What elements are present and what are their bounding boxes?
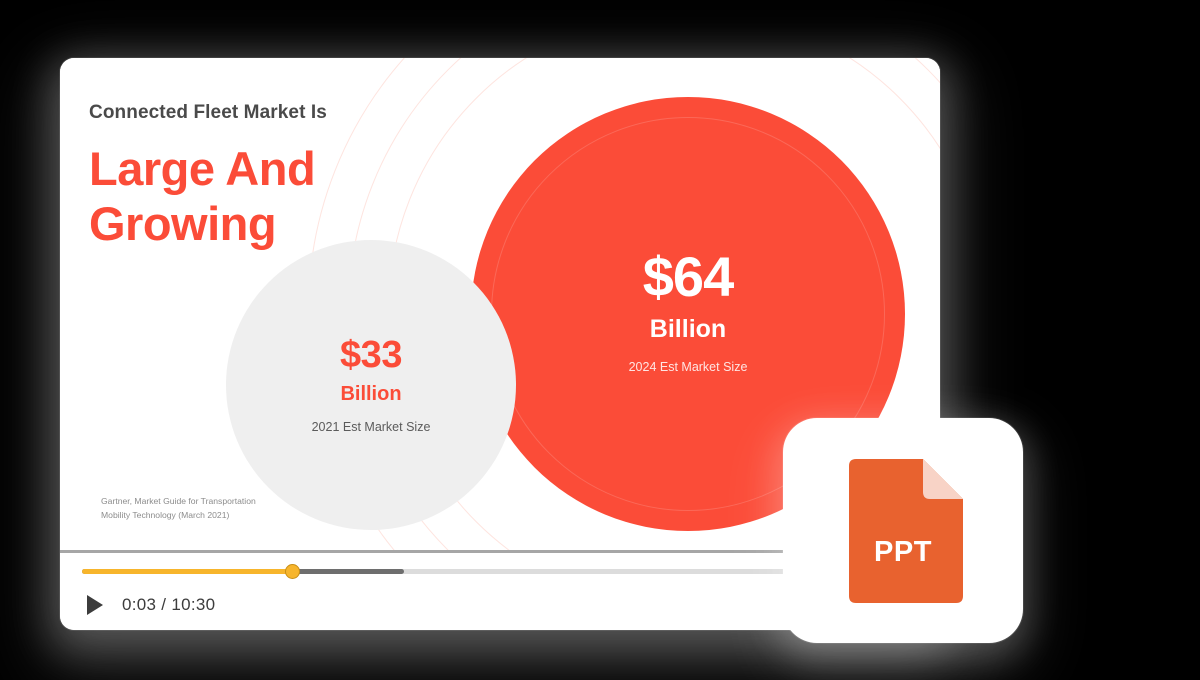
- scrubber-handle[interactable]: [285, 564, 300, 579]
- progress-played: [82, 569, 293, 574]
- bubble-2024-content: $64 Billion 2024 Est Market Size: [471, 249, 905, 374]
- bubble-2024-caption: 2024 Est Market Size: [471, 361, 905, 374]
- bubble-2024-value: $64: [471, 249, 905, 305]
- bubble-2021: $33 Billion 2021 Est Market Size: [226, 240, 516, 530]
- bubble-2021-value: $33: [226, 336, 516, 374]
- bubble-2021-content: $33 Billion 2021 Est Market Size: [226, 336, 516, 434]
- play-icon: [85, 594, 105, 616]
- bubble-2021-unit: Billion: [226, 384, 516, 404]
- ppt-label: PPT: [843, 536, 964, 569]
- slide-title: Large And Growing: [89, 141, 349, 252]
- footnote-line-1: Gartner, Market Guide for Transportation: [101, 495, 256, 508]
- slide-source-footnote: Gartner, Market Guide for Transportation…: [101, 495, 256, 522]
- time-display: 0:03 / 10:30: [122, 595, 215, 615]
- screenshot-root: $64 Billion 2024 Est Market Size $33 Bil…: [0, 0, 1200, 680]
- slide-eyebrow: Connected Fleet Market Is: [89, 103, 349, 122]
- slide-headline: Connected Fleet Market Is Large And Grow…: [89, 103, 349, 252]
- bubble-2024-unit: Billion: [471, 317, 905, 342]
- play-button[interactable]: [82, 592, 108, 618]
- bubble-2021-caption: 2021 Est Market Size: [226, 421, 516, 434]
- ppt-file-badge[interactable]: PPT: [783, 418, 1023, 643]
- footnote-line-2: Mobility Technology (March 2021): [101, 509, 256, 522]
- ppt-file-icon: PPT: [843, 458, 964, 604]
